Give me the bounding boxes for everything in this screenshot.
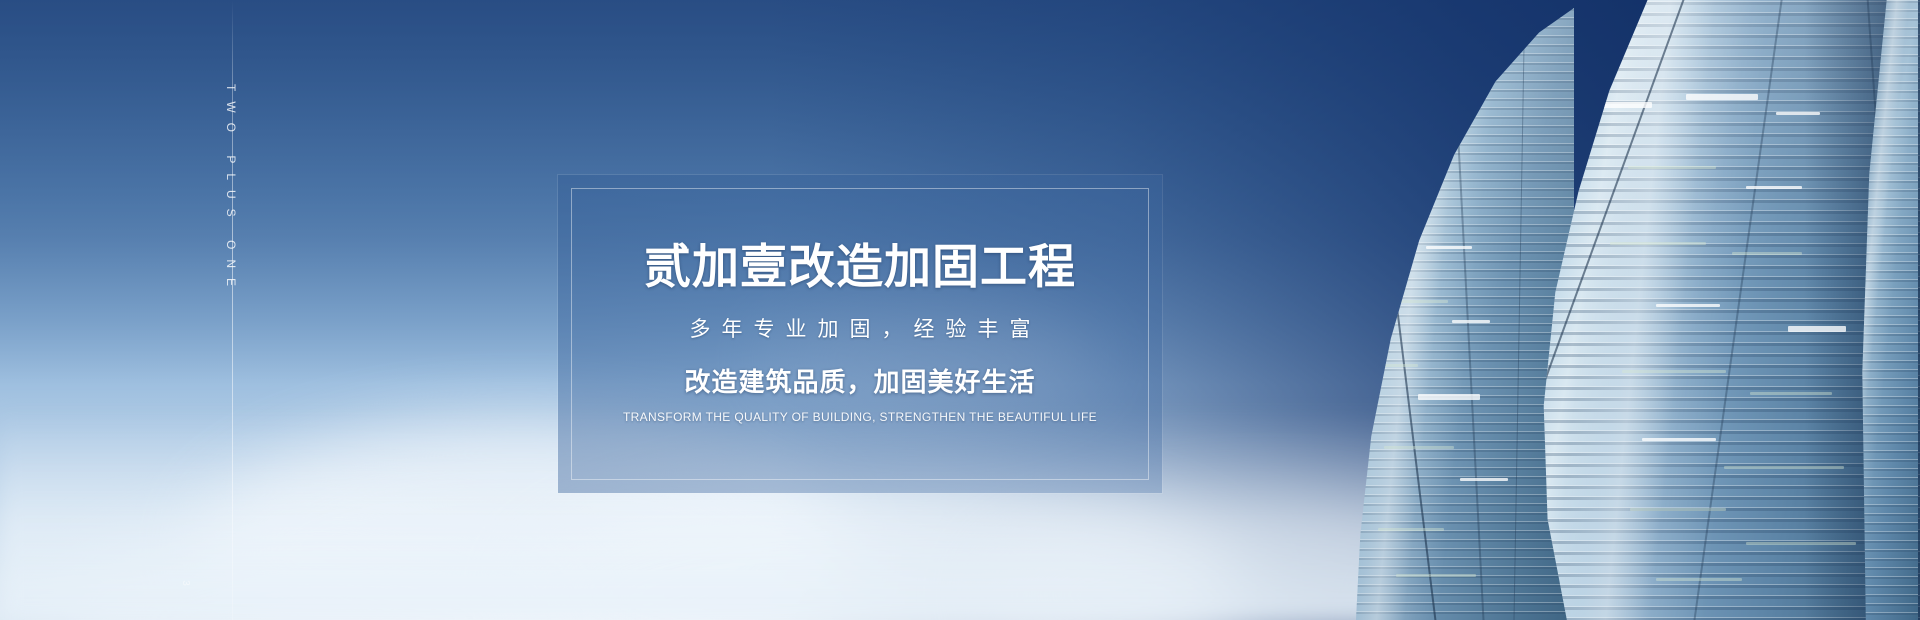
lit-window (1686, 94, 1758, 100)
cloud-shape (60, 520, 580, 620)
cloud-shape (520, 480, 1240, 620)
panel-english-subtitle: TRANSFORM THE QUALITY OF BUILDING, STREN… (623, 410, 1097, 426)
tower-right (1536, 0, 1920, 620)
tower-left (1356, 8, 1574, 620)
lit-window (1610, 242, 1706, 245)
lit-window (1746, 542, 1856, 545)
lit-window (1642, 438, 1716, 441)
lit-window (1598, 102, 1652, 108)
lit-window (1418, 394, 1480, 400)
skyscraper-illustration (1300, 0, 1920, 620)
lit-window (1426, 246, 1472, 249)
lit-window (1732, 252, 1802, 255)
lit-window (1384, 446, 1454, 449)
lit-window (1656, 304, 1720, 307)
lit-window (1630, 508, 1726, 511)
lit-window (1746, 186, 1802, 189)
lit-window (1628, 166, 1716, 169)
hero-banner: TWO PLUS ONE 3 贰加壹改造加固工程 多年专业加固，经验丰富 改造建… (0, 0, 1920, 620)
lit-window (1656, 578, 1742, 581)
panel-content: 贰加壹改造加固工程 多年专业加固，经验丰富 改造建筑品质，加固美好生活 TRAN… (558, 175, 1162, 493)
headline-panel: 贰加壹改造加固工程 多年专业加固，经验丰富 改造建筑品质，加固美好生活 TRAN… (558, 175, 1162, 493)
lit-window (1724, 466, 1844, 469)
lit-window (1374, 364, 1418, 367)
panel-headline: 贰加壹改造加固工程 (644, 242, 1076, 291)
lit-window (1750, 392, 1832, 395)
lit-window (1788, 326, 1846, 332)
lit-window (1396, 574, 1476, 577)
rail-bottom-mark: 3 (180, 580, 191, 587)
lit-window (1452, 320, 1490, 323)
brand-rail: TWO PLUS ONE 3 (232, 0, 234, 620)
lit-window (1460, 478, 1508, 481)
panel-subline: 多年专业加固，经验丰富 (679, 317, 1042, 342)
lit-window (1390, 300, 1448, 303)
lit-window (1380, 190, 1414, 193)
lit-window (1622, 370, 1726, 373)
brand-vertical-text: TWO PLUS ONE (224, 84, 238, 296)
panel-tagline: 改造建筑品质，加固美好生活 (684, 368, 1035, 398)
lit-window (1378, 528, 1444, 531)
lit-window (1776, 112, 1820, 115)
